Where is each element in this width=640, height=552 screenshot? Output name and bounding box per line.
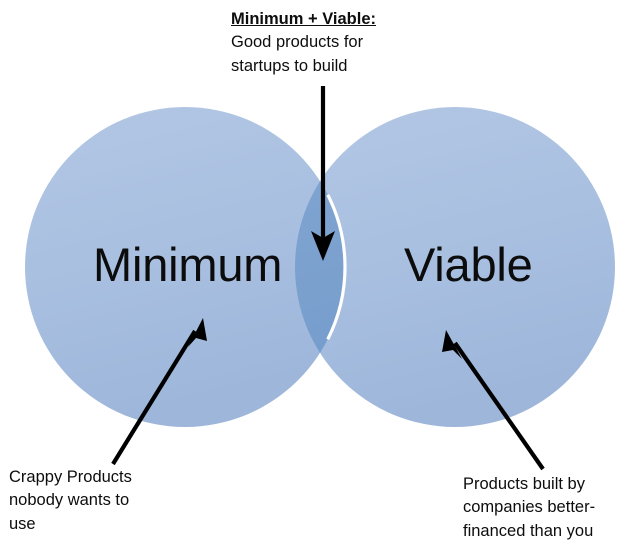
annotation-intersection-line-1: Good products for bbox=[231, 31, 376, 54]
venn-diagram: Minimum Viable Minimum + Viable: Good pr… bbox=[0, 0, 640, 552]
annotation-minimum-only-line-3: use bbox=[9, 513, 132, 536]
annotation-minimum-only: Crappy Products nobody wants to use bbox=[9, 466, 132, 536]
annotation-viable-only-line-2: companies better- bbox=[463, 496, 595, 519]
annotation-viable-only-line-3: financed than you bbox=[463, 520, 595, 543]
annotation-viable-only-line-1: Products built by bbox=[463, 473, 595, 496]
annotation-intersection: Minimum + Viable: Good products for star… bbox=[231, 8, 376, 78]
circle-label-minimum: Minimum bbox=[93, 241, 282, 288]
annotation-intersection-line-2: startups to build bbox=[231, 55, 376, 78]
annotation-minimum-only-line-2: nobody wants to bbox=[9, 489, 132, 512]
annotation-intersection-heading: Minimum + Viable: bbox=[231, 8, 376, 31]
annotation-viable-only: Products built by companies better- fina… bbox=[463, 473, 595, 543]
circle-label-viable: Viable bbox=[404, 241, 533, 288]
annotation-minimum-only-line-1: Crappy Products bbox=[9, 466, 132, 489]
